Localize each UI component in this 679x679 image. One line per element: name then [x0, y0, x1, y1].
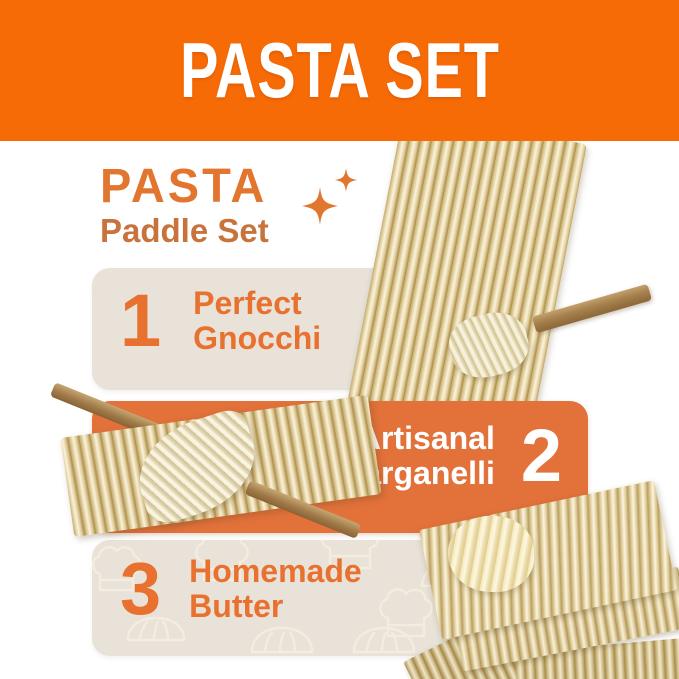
feature-card-3-content: 3 Homemade Butter [120, 552, 362, 626]
butter-curl [448, 516, 534, 592]
feature-number-3: 3 [120, 552, 161, 626]
feature-label-3: Homemade Butter [189, 554, 362, 624]
butter-paddle-stack-photo [396, 498, 679, 679]
bread-loaf-outline-icon [252, 628, 312, 652]
feature-card-1-content: 1 Perfect Gnocchi [120, 284, 321, 358]
feature-label-1-line2: Gnocchi [193, 320, 321, 356]
gnocchi-board-photo [352, 132, 679, 422]
banner-title: PASTA SET [180, 32, 500, 110]
feature-number-1: 1 [120, 284, 161, 358]
feature-label-2-line1: Artisanal [358, 420, 495, 456]
feature-label-3-line2: Butter [189, 588, 283, 624]
feature-label-1-line1: Perfect [193, 285, 302, 321]
sparkle-star-icon [300, 160, 380, 240]
garganelli-board-photo [38, 394, 368, 544]
sparkle-decoration [300, 160, 380, 240]
feature-label-1: Perfect Gnocchi [193, 286, 321, 356]
feature-label-3-line1: Homemade [189, 553, 362, 589]
product-infographic: PASTA SET PASTA Paddle Set 1 Perfect Gno… [0, 0, 679, 679]
header-banner: PASTA SET [0, 0, 679, 141]
ridged-board-surface [347, 109, 587, 439]
feature-number-2: 2 [521, 419, 562, 493]
